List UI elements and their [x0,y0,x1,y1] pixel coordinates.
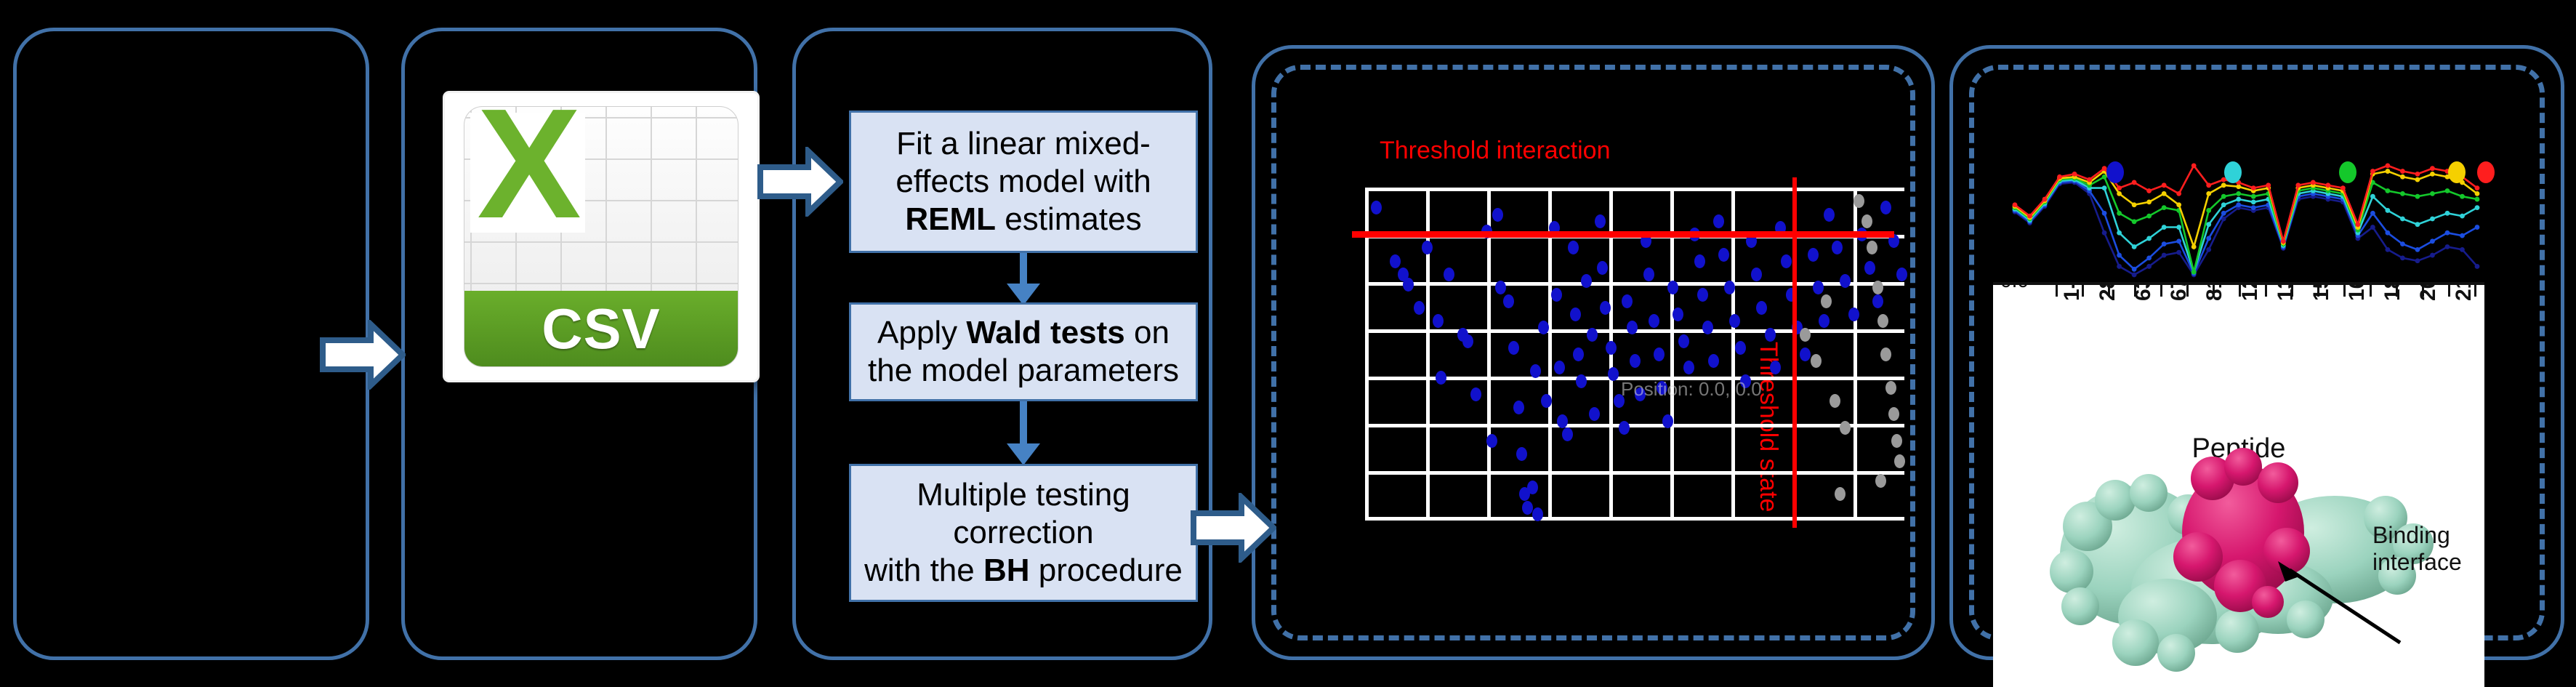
peptide-series-point [2370,225,2375,230]
peptide-series-point [2146,188,2152,193]
peptide-series-line [2015,177,2477,272]
peptide-series-point [2475,185,2480,190]
peptide-series-point [2430,217,2435,222]
peptide-tick-label: 218-237 [2452,282,2476,301]
scatter-point [1436,371,1446,385]
connector-step1-to-step2 [1020,253,1027,286]
plot-x-axis [1365,517,1904,521]
scatter-point [1503,294,1514,308]
peptide-series-point [2386,247,2391,252]
peptide-series-point [2445,230,2450,236]
peptide-series-point [2236,197,2241,202]
step2-keyword-wald: Wald tests [966,315,1124,350]
y-tick-label-0: 0.0 [2000,282,2029,292]
peptide-series-point [2251,200,2256,205]
csv-format-label: CSV [542,296,660,362]
scatter-point [1811,354,1822,368]
scatter-point [1808,248,1819,262]
scatter-point [1508,341,1519,355]
peptide-series-point [2475,191,2480,196]
excel-x-glyph: X [475,106,584,233]
scatter-point [1444,268,1454,281]
step1-line3-rest: estimates [996,201,1142,237]
peptide-tick-label: 184-199 [2380,282,2405,301]
step2-line2: the model parameters [868,353,1179,388]
peptide-series-point [2430,253,2435,258]
peptide-series-point [2400,241,2405,246]
scatter-point [1492,208,1503,222]
peptide-series-point [2460,214,2465,219]
peptide-series-point [2146,256,2152,261]
peptide-series-point [2475,225,2480,230]
connector-step2-arrowhead [1007,443,1040,465]
peptide-series-point [2162,241,2167,246]
peptide-series-point [2251,205,2256,210]
position-watermark: Position: 0.0, 0.0 [1621,378,1762,401]
scatter-point [1557,414,1568,428]
peptide-series-point [2251,194,2256,199]
peptide-series-point [2162,191,2167,196]
peptide-tick-label: 81-101 [2202,282,2227,301]
scatter-point [1800,328,1811,342]
scatter-point [1573,347,1584,361]
step3-line3-pre: with the [864,553,983,588]
scatter-point [1390,254,1401,268]
peptide-series-point [2415,247,2420,252]
csv-format-band: CSV [464,291,738,366]
scatter-point [1530,364,1541,378]
peptide-series-point [2162,253,2167,258]
peptide-series-point [2117,191,2122,196]
binding-label-line2: interface [2372,549,2482,576]
threshold-interaction-line [1352,231,1894,238]
peptide-series-point [2400,256,2405,261]
step3-line2: correction [953,515,1093,550]
peptide-series-point [2206,236,2211,241]
scatter-point [1697,288,1708,302]
peptide-series-point [2206,222,2211,227]
peptide-series-point [2117,185,2122,190]
peptide-series-point [2132,244,2137,249]
scatter-point [1708,354,1719,368]
step-multiple-testing-box[interactable]: Multiple testing correction with the BH … [849,464,1198,602]
peptide-series-point [2132,267,2137,272]
step3-line1: Multiple testing [917,477,1130,513]
peptide-tick [2160,285,2162,297]
scatter-point [1891,434,1902,448]
peptide-series-point [2206,208,2211,213]
scatter-point [1864,261,1875,275]
legend-dot [2448,161,2466,183]
arrow-input-to-csv [320,320,406,390]
peptide-tick-label: 1-15 [2060,282,2085,301]
scatter-point [1600,301,1611,315]
peptide-series-point [2162,225,2167,230]
peptide-tick-label: 63-73 [2131,282,2156,301]
workflow-diagram: X CSV Fit a linear mixed- effects model … [0,0,2576,687]
peptide-series-point [2445,244,2450,249]
scatter-point [1568,241,1579,254]
scatter-point [1595,214,1606,228]
scatter-point [1751,268,1762,281]
peptide-series-point [2460,247,2465,252]
peptide-series-point [2176,202,2181,207]
scatter-point [1872,294,1883,308]
legend-dot [2339,161,2356,183]
peptide-series-point [2176,225,2181,230]
volcano-scatter-plot [1365,188,1904,521]
scatter-point [1414,301,1425,315]
scatter-point [1643,268,1654,281]
scatter-point [1662,414,1673,428]
scatter-point [1848,308,1859,321]
peptide-tick [2265,285,2267,297]
scatter-point [1880,347,1891,361]
peptide-series-point [2221,202,2226,207]
scatter-point [1875,474,1886,488]
peptide-series-point [2236,191,2241,196]
peptide-tick-label: 200-214 [2416,282,2441,301]
peptide-series-point [2340,185,2346,190]
csv-icon-body: X CSV [464,106,738,367]
peptide-series-line [2015,182,2477,275]
scatter-point [1894,454,1905,468]
scatter-point [1781,254,1792,268]
step1-keyword-reml: REML [905,201,996,237]
peptide-series-point [2146,214,2152,219]
scatter-point [1522,501,1533,515]
peptide-series-point [2117,211,2122,216]
peptide-tick-label: 158-166 [2309,282,2334,301]
peptide-series-point [2206,247,2211,252]
step-fit-model-box[interactable]: Fit a linear mixed- effects model with R… [849,111,1198,253]
peptide-tick-label: 135-144 [2274,282,2298,301]
peptide-series-point [2102,211,2107,216]
legend-dot [2224,161,2242,183]
threshold-interaction-label: Threshold interaction [1380,137,1611,165]
peptide-series-point [2132,219,2137,224]
scatter-point [1824,208,1835,222]
peptide-series-point [2146,236,2152,241]
peptide-series-point [2430,238,2435,244]
peptide-series-point [2281,238,2286,244]
peptide-series-point [2460,233,2465,238]
peptide-series-point [2102,185,2107,190]
peptide-series-point [2475,264,2480,269]
peptide-series-point [2386,208,2391,213]
peptide-tick [2370,285,2372,297]
scatter-point [1713,214,1724,228]
peptide-series-point [2132,273,2137,278]
peptide-tick [2448,285,2450,297]
scatter-point [1551,288,1562,302]
binding-interface-label: Binding interface [2372,522,2482,576]
peptide-series-point [2027,214,2032,219]
peptide-tick-label: 28-44 [2096,282,2120,301]
peptide-tick-label: 122-129 [2238,282,2263,301]
scatter-point [1495,281,1506,294]
peptide-series-point [2162,205,2167,210]
peptide-series-point [2176,250,2181,255]
legend-dot [2477,161,2495,183]
peptide-series-point [2191,270,2197,275]
scatter-point [1861,214,1872,228]
step2-line1-post: on [1125,315,1170,350]
peptide-chart-legend [2006,161,2486,186]
csv-file-icon: X CSV [445,93,757,380]
peptide-series-point [2221,194,2226,199]
scatter-point [1619,421,1630,435]
peptide-series-point [2236,202,2241,207]
arrow-stats-to-volcano [1191,493,1276,563]
scatter-point [1800,347,1811,361]
scatter-point [1622,294,1633,308]
step-wald-tests-box[interactable]: Apply Wald tests on the model parameters [849,302,1198,401]
peptide-series-point [2400,217,2405,222]
scatter-point [1587,328,1598,342]
scatter-point [1541,394,1552,408]
step3-keyword-bh: BH [983,553,1030,588]
protein-figure-card: 0.0 1-1528-4463-7367-7581-101122-129135-… [1993,282,2484,687]
scatter-point [1678,334,1689,348]
peptide-series-point [2386,188,2391,193]
peptide-series-point [2117,253,2122,258]
peptide-series-point [2415,258,2420,263]
peptide-series-point [2415,194,2420,199]
input-data-panel [13,28,369,660]
peptide-series-point [2146,200,2152,205]
peptide-series-point [2445,188,2450,193]
peptide-series-point [2117,264,2122,269]
scatter-point [1606,341,1617,355]
peptide-series-point [2475,197,2480,202]
peptide-series-point [2460,194,2465,199]
connector-step2-to-step3 [1020,401,1027,448]
scatter-point [1735,341,1746,355]
scatter-point [1576,374,1587,388]
peptide-series-point [2206,191,2211,196]
peptide-series-point [2400,191,2405,196]
peptide-series-point [2370,194,2375,199]
scatter-point [1765,328,1776,342]
step3-line3-post: procedure [1030,553,1183,588]
threshold-state-line [1792,177,1797,528]
step2-line1-pre: Apply [877,315,966,350]
peptide-tick-label: 67-75 [2167,282,2191,301]
binding-label-line1: Binding [2372,522,2482,549]
peptide-series-point [2475,205,2480,210]
peptide-series-point [2355,222,2360,227]
peptide-series-point [2176,191,2181,196]
scatter-point [1462,334,1473,348]
peptide-series-point [2251,185,2256,190]
peptide-series-point [2221,211,2226,216]
scatter-point [1819,314,1830,328]
peptide-series-point [2102,230,2107,236]
arrow-csv-to-stats [757,147,843,217]
scatter-point [1830,394,1840,408]
peptide-series-point [2370,211,2375,216]
peptide-series-point [2132,202,2137,207]
legend-dot [2106,161,2124,183]
peptide-series-point [2445,211,2450,216]
peptide-series-point [2191,244,2197,249]
peptide-series-point [2176,238,2181,244]
peptide-tick [2056,285,2058,297]
scatter-point [1694,254,1705,268]
scatter-point [1470,387,1481,401]
peptide-series-point [2013,202,2018,207]
peptide-series-point [2415,222,2420,227]
step1-line2: effects model with [895,164,1151,199]
peptide-series-point [2117,230,2122,236]
peptide-series-point [2430,191,2435,196]
peptide-series-point [2042,197,2048,202]
step1-line1: Fit a linear mixed- [896,126,1151,161]
peptide-series-point [2386,230,2391,236]
peptide-series-point [2146,264,2152,269]
peptide-tick-label: 167-180 [2345,282,2370,301]
